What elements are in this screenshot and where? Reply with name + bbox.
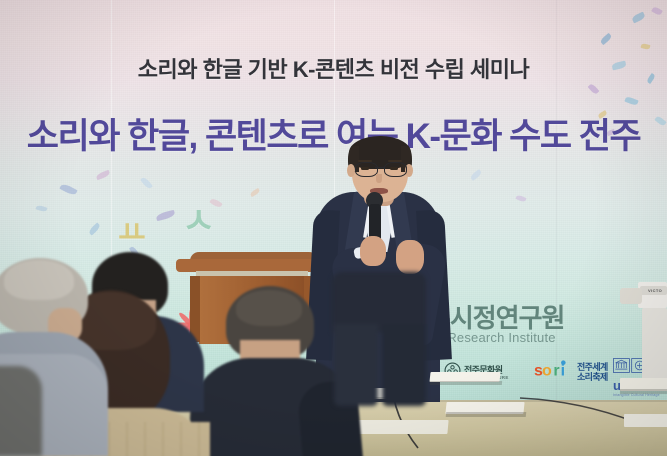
- seminar-photo: ㅛ ㅅ ㅇ 소리와 한글 기반 K-콘텐츠 비전 수립 세미나 소리와 한글, …: [0, 0, 667, 456]
- speaker-hand-mic: [360, 236, 386, 266]
- hangul-jamo-yo: ㅛ: [118, 208, 146, 252]
- speaker-hand-gesture: [396, 240, 424, 274]
- svg-text:r: r: [553, 362, 559, 379]
- svg-text:o: o: [542, 362, 552, 379]
- audience-edge-left: [0, 366, 42, 456]
- sori-festival-logo: s o r i 전주세계 소리축제: [534, 360, 608, 385]
- sori-festival-kr-line2: 소리축제: [577, 373, 608, 382]
- sori-wordmark-icon: s o r i: [534, 360, 574, 385]
- audience-person-right: [332, 272, 428, 404]
- banner-subtitle: 소리와 한글 기반 K-콘텐츠 비전 수립 세미나: [0, 52, 667, 84]
- hangul-jamo-siot: ㅅ: [182, 192, 215, 244]
- audience-man-navy-center: [196, 286, 346, 456]
